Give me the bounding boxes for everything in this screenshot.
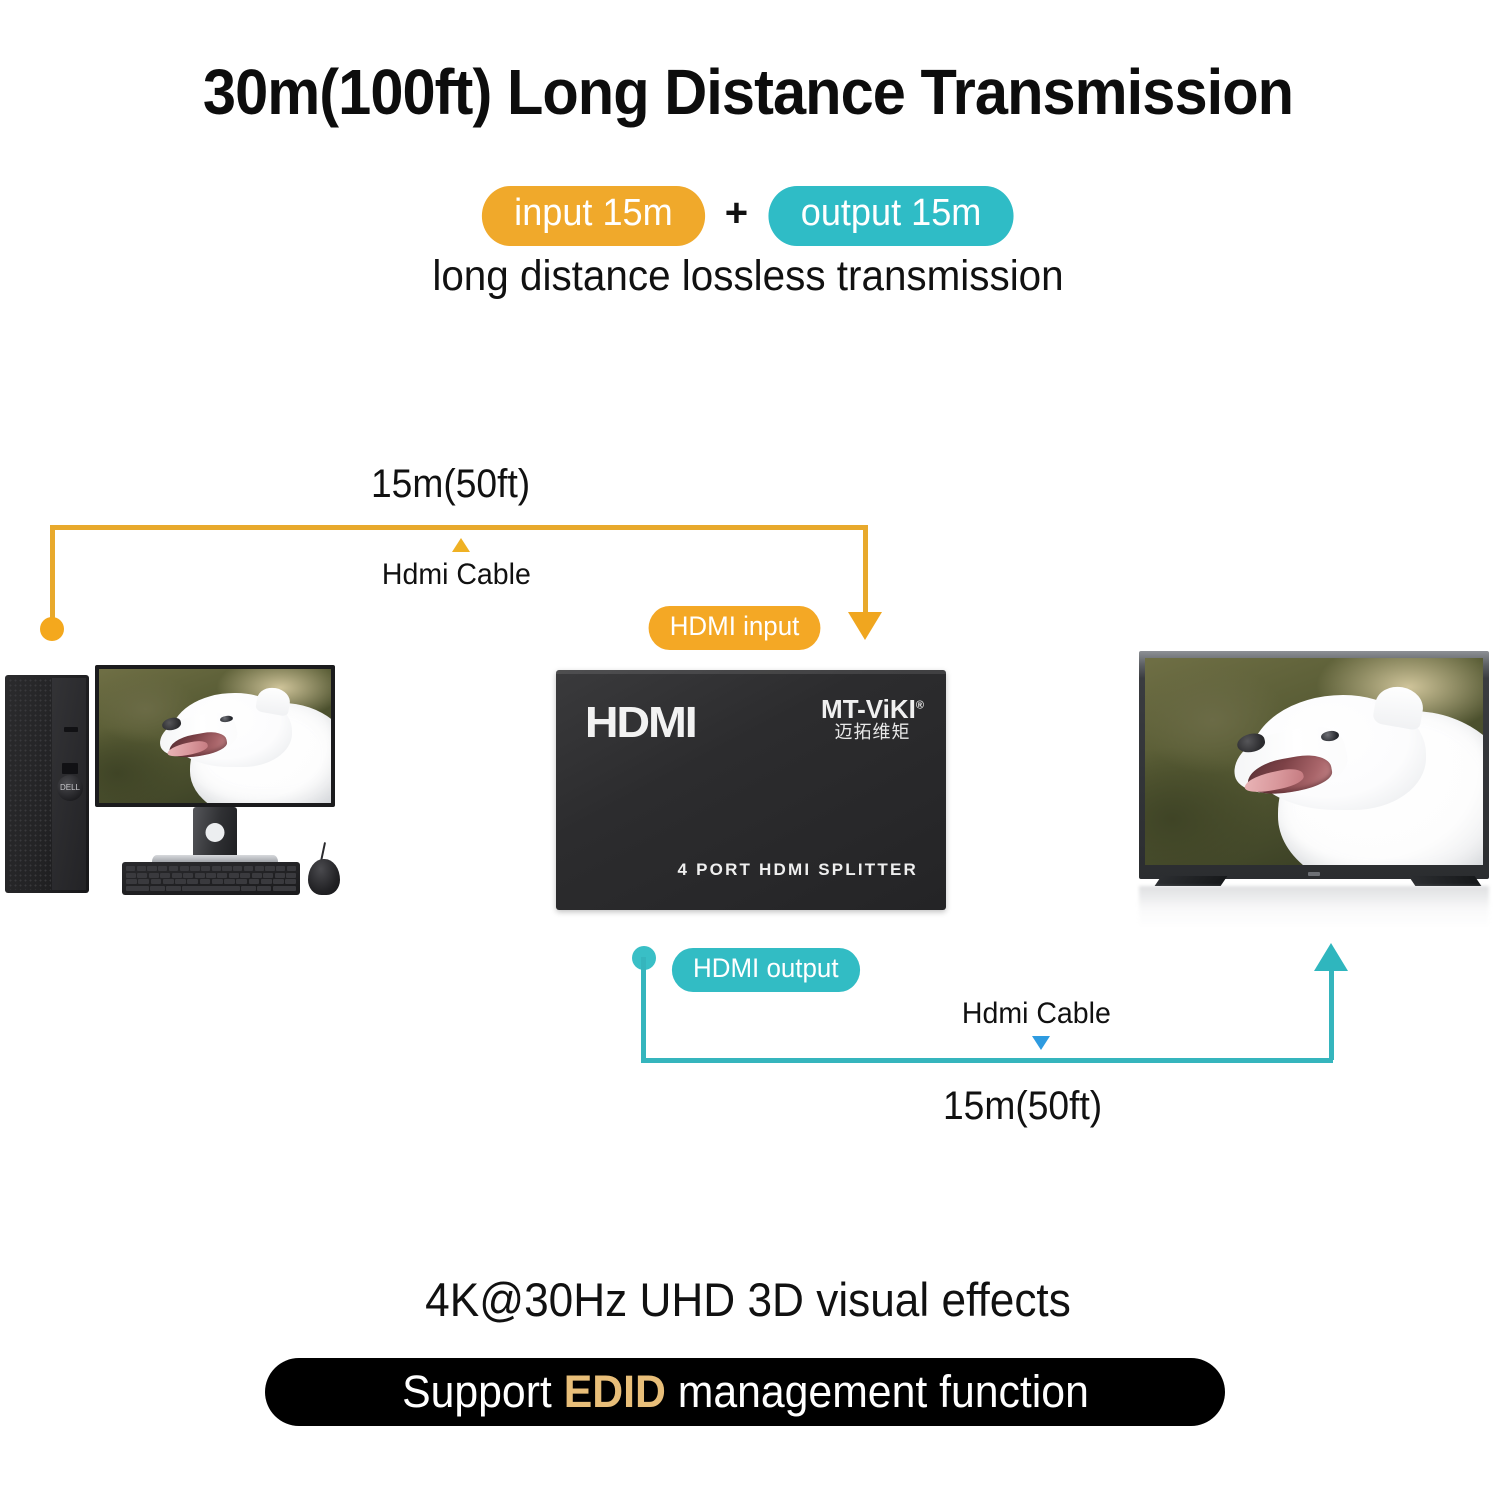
- tower-usb-port-icon: [62, 763, 78, 774]
- brand-name: MT-ViKI®: [821, 696, 924, 722]
- orange-line-horizontal: [50, 525, 868, 530]
- infographic-page: 30m(100ft) Long Distance Transmission in…: [0, 0, 1496, 1496]
- dog-ear: [255, 685, 292, 716]
- hdmi-output-tag: HDMI output: [672, 948, 860, 992]
- tower-port-icon: [64, 727, 78, 732]
- teal-line-right-vertical: [1329, 968, 1334, 1060]
- tv-foot-left: [1155, 876, 1228, 886]
- support-suffix-text: management function: [665, 1366, 1088, 1417]
- orange-line-right-vertical: [863, 525, 868, 615]
- support-prefix-text: Support: [402, 1366, 564, 1417]
- teal-line-left-vertical: [641, 957, 646, 1062]
- bottom-cable-label: Hdmi Cable: [962, 997, 1111, 1031]
- brand-name-chinese: 迈拓维矩: [821, 722, 924, 745]
- hdmi-logo: HDMI: [585, 698, 696, 748]
- output-distance-pill: output 15m: [769, 186, 1014, 246]
- teal-line-horizontal: [641, 1058, 1333, 1063]
- top-cable-label: Hdmi Cable: [382, 558, 531, 592]
- dell-logo: DELL: [57, 775, 83, 801]
- page-subtitle: long distance lossless transmission: [45, 252, 1451, 301]
- hdmi-splitter-device: HDMI MT-ViKI® 迈拓维矩 4 PORT HDMI SPLITTER: [556, 670, 946, 910]
- top-cable-pointer-icon: [452, 538, 470, 552]
- brand-block: MT-ViKI® 迈拓维矩: [821, 696, 924, 745]
- pc-tower: DELL: [5, 675, 89, 893]
- computer-keyboard: [122, 862, 300, 895]
- hdmi-input-tag: HDMI input: [649, 606, 821, 650]
- resolution-claim: 4K@30Hz UHD 3D visual effects: [45, 1272, 1451, 1327]
- computer-mouse: [308, 859, 340, 895]
- orange-endpoint-dot: [40, 617, 64, 641]
- keyboard-row: [126, 873, 296, 878]
- top-distance-label: 15m(50ft): [371, 462, 530, 507]
- brand-name-text: MT-ViKI: [821, 694, 916, 724]
- television: [1139, 651, 1489, 879]
- keyboard-row: [126, 886, 296, 891]
- monitor-stand-hole: [206, 823, 225, 842]
- edid-banner: Support EDID management function: [265, 1358, 1225, 1426]
- registered-mark-icon: ®: [916, 699, 924, 711]
- tv-reflection: [1139, 886, 1489, 928]
- monitor-screen-photo: [99, 669, 331, 803]
- orange-line-left-vertical: [50, 525, 55, 630]
- plus-sign: +: [725, 191, 748, 240]
- edid-highlight: EDID: [563, 1366, 665, 1417]
- spec-pill-row: input 15m + output 15m: [0, 186, 1496, 246]
- monitor-stand-neck: [193, 807, 237, 859]
- tower-mesh-texture: [8, 678, 51, 890]
- bottom-cable-pointer-icon: [1032, 1036, 1050, 1050]
- hdmi-output-arrow-icon: [1314, 943, 1348, 971]
- hdmi-input-arrow-icon: [848, 612, 882, 640]
- tv-foot-right: [1409, 876, 1482, 886]
- desktop-monitor: [95, 665, 335, 807]
- edid-banner-text: Support EDID management function: [402, 1366, 1089, 1418]
- keyboard-row: [126, 866, 296, 871]
- dog-ear: [1372, 683, 1426, 731]
- bottom-distance-label: 15m(50ft): [943, 1084, 1102, 1129]
- input-distance-pill: input 15m: [482, 186, 705, 246]
- page-title: 30m(100ft) Long Distance Transmission: [52, 55, 1443, 129]
- dog-illustration: [1233, 683, 1483, 865]
- dog-illustration: [159, 685, 331, 803]
- device-model-label: 4 PORT HDMI SPLITTER: [678, 860, 918, 880]
- tv-screen-photo: [1145, 658, 1483, 865]
- tv-brand-logo: [1308, 872, 1320, 876]
- keyboard-row: [126, 879, 296, 884]
